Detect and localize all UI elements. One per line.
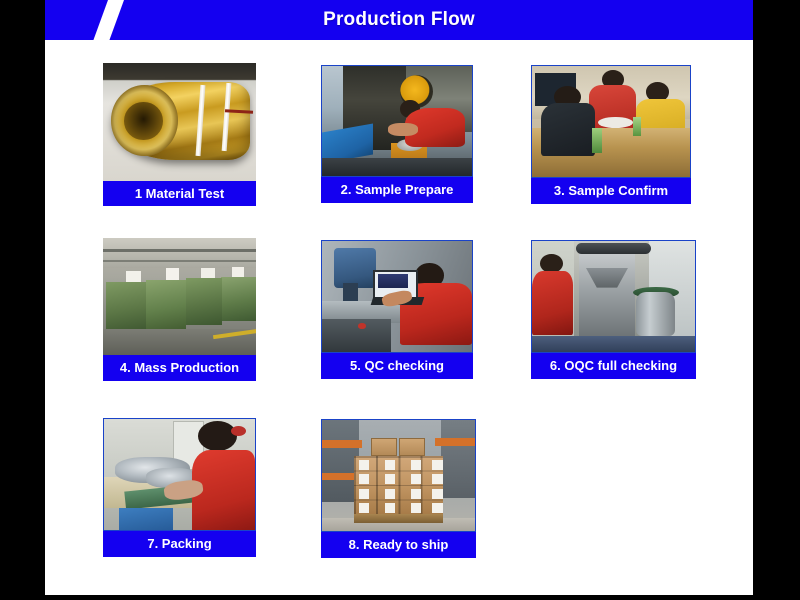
step-caption-2: 2. Sample Prepare <box>321 177 473 203</box>
step-photo-material-test <box>103 63 256 181</box>
step-caption-5: 5. QC checking <box>321 353 473 379</box>
slide-header: Production Flow <box>45 0 753 40</box>
step-photo-ready-to-ship <box>321 419 476 532</box>
step-photo-sample-prepare <box>321 65 473 177</box>
step-photo-qc-checking <box>321 240 473 353</box>
step-caption-7: 7. Packing <box>103 531 256 557</box>
step-caption-4: 4. Mass Production <box>103 355 256 381</box>
step-card-4[interactable]: 4. Mass Production <box>103 238 256 381</box>
step-card-7[interactable]: 7. Packing <box>103 418 256 557</box>
step-card-3[interactable]: 3. Sample Confirm <box>531 65 691 204</box>
step-caption-8: 8. Ready to ship <box>321 532 476 558</box>
step-card-5[interactable]: 5. QC checking <box>321 240 473 379</box>
step-caption-3: 3. Sample Confirm <box>531 178 691 204</box>
step-photo-packing <box>103 418 256 531</box>
step-photo-mass-production <box>103 238 256 355</box>
step-caption-1: 1 Material Test <box>103 181 256 206</box>
step-card-8[interactable]: 8. Ready to ship <box>321 419 476 558</box>
step-card-2[interactable]: 2. Sample Prepare <box>321 65 473 203</box>
page-title: Production Flow <box>45 0 753 40</box>
step-caption-6: 6. OQC full checking <box>531 353 696 379</box>
step-photo-sample-confirm <box>531 65 691 178</box>
slide-canvas: Production Flow 1 Material Test 2. Sampl… <box>0 0 800 600</box>
step-card-6[interactable]: 6. OQC full checking <box>531 240 696 379</box>
step-photo-oqc-full-checking <box>531 240 696 353</box>
step-card-1[interactable]: 1 Material Test <box>103 63 256 206</box>
